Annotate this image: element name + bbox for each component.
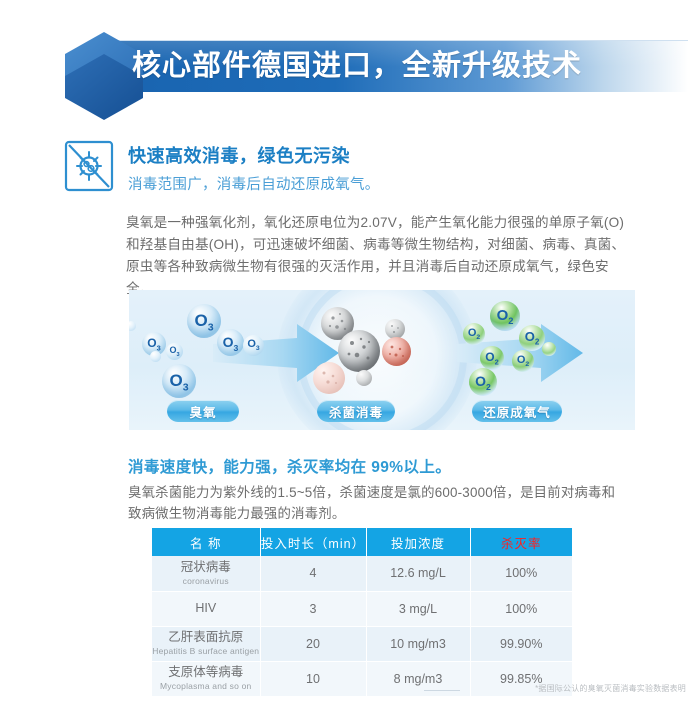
table-row: 冠状病毒 coronavirus 4 12.6 mg/L 100% [152, 556, 572, 591]
stage-label-sterilize: 杀菌消毒 [317, 400, 395, 422]
table-header-row: 名 称 投入时长（min） 投加浓度 杀灭率 [152, 528, 572, 556]
no-germ-icon [64, 140, 114, 192]
cell-name: 冠状病毒 coronavirus [152, 556, 260, 591]
cell-killrate: 100% [470, 556, 572, 591]
cell-concentration: 10 mg/m3 [366, 626, 470, 661]
cell-name-en: Hepatitis B surface antigen [152, 646, 260, 657]
molecule-o3: O3 [166, 343, 183, 360]
cell-name: HIV [152, 591, 260, 626]
cell-name-cn: 冠状病毒 [152, 560, 260, 576]
cell-duration: 4 [260, 556, 366, 591]
germ-cell [385, 319, 405, 339]
table-row: 乙肝表面抗原 Hepatitis B surface antigen 20 10… [152, 626, 572, 661]
cell-duration: 20 [260, 626, 366, 661]
cell-name: 支原体等病毒 Mycoplasma and so on [152, 661, 260, 696]
section2-paragraph: 臭氧杀菌能力为紫外线的1.5~5倍，杀菌速度是氯的600-3000倍，是目前对病… [128, 482, 628, 524]
cell-name-cn: 乙肝表面抗原 [152, 630, 260, 646]
cell-concentration: 12.6 mg/L [366, 556, 470, 591]
germ-cell-red [382, 337, 411, 366]
molecule-o2 [542, 342, 556, 356]
cell-duration: 10 [260, 661, 366, 696]
footnote-text: *据国际公认的臭氧灭菌消毒实验数据表明 [535, 683, 686, 694]
table-row: 支原体等病毒 Mycoplasma and so on 10 8 mg/m3 9… [152, 661, 572, 696]
banner-title: 核心部件德国进口，全新升级技术 [132, 44, 582, 88]
molecule-o2: O2 [469, 368, 497, 396]
molecule-o2: O2 [512, 350, 534, 372]
cell-killrate: 99.90% [470, 626, 572, 661]
germ-cell [356, 370, 372, 386]
page-header-banner: 核心部件德国进口，全新升级技术 [0, 28, 700, 118]
footnote-rule [424, 690, 460, 691]
table-header-duration: 投入时长（min） [260, 528, 366, 556]
table-header-name: 名 称 [152, 528, 260, 556]
section2-title: 消毒速度快，能力强，杀灭率均在 99%以上。 [128, 455, 451, 477]
molecule-o2: O2 [463, 323, 485, 345]
molecule-o2: O2 [490, 301, 520, 331]
cell-name-en: Mycoplasma and so on [152, 681, 260, 692]
kill-rate-table: 名 称 投入时长（min） 投加浓度 杀灭率 冠状病毒 coronavirus … [152, 528, 572, 697]
molecule-o3 [129, 321, 136, 331]
stage-label-oxygen: 还原成氧气 [472, 400, 562, 422]
molecule-o2: O2 [480, 346, 504, 370]
cell-name-en: coronavirus [152, 576, 260, 587]
cell-name: 乙肝表面抗原 Hepatitis B surface antigen [152, 626, 260, 661]
germ-cell-pale [313, 362, 345, 394]
section1-paragraph: 臭氧是一种强氧化剂，氧化还原电位为2.07V，能产生氧化能力很强的单原子氧(O)… [126, 212, 634, 300]
table-header-concentration: 投加浓度 [366, 528, 470, 556]
section1-title: 快速高效消毒，绿色无污染 [128, 142, 350, 168]
molecule-o3: O3 [162, 364, 196, 398]
table-row: HIV 3 3 mg/L 100% [152, 591, 572, 626]
section1-subtitle: 消毒范围广，消毒后自动还原成氧气。 [128, 173, 380, 194]
molecule-o3: O3 [217, 329, 244, 356]
cell-killrate: 100% [470, 591, 572, 626]
cell-duration: 3 [260, 591, 366, 626]
stage-label-ozone: 臭氧 [167, 400, 239, 422]
molecule-o3 [150, 351, 161, 362]
molecule-o3: O3 [243, 335, 264, 356]
molecule-o3: O3 [187, 304, 221, 338]
cell-name-cn: HIV [152, 601, 260, 617]
cell-concentration: 3 mg/L [366, 591, 470, 626]
table-header-killrate: 杀灭率 [470, 528, 572, 556]
cell-name-cn: 支原体等病毒 [152, 665, 260, 681]
ozone-process-diagram: O3 O3 O3 O3 O3 O3 O2 O2 O2 O2 [129, 290, 635, 430]
